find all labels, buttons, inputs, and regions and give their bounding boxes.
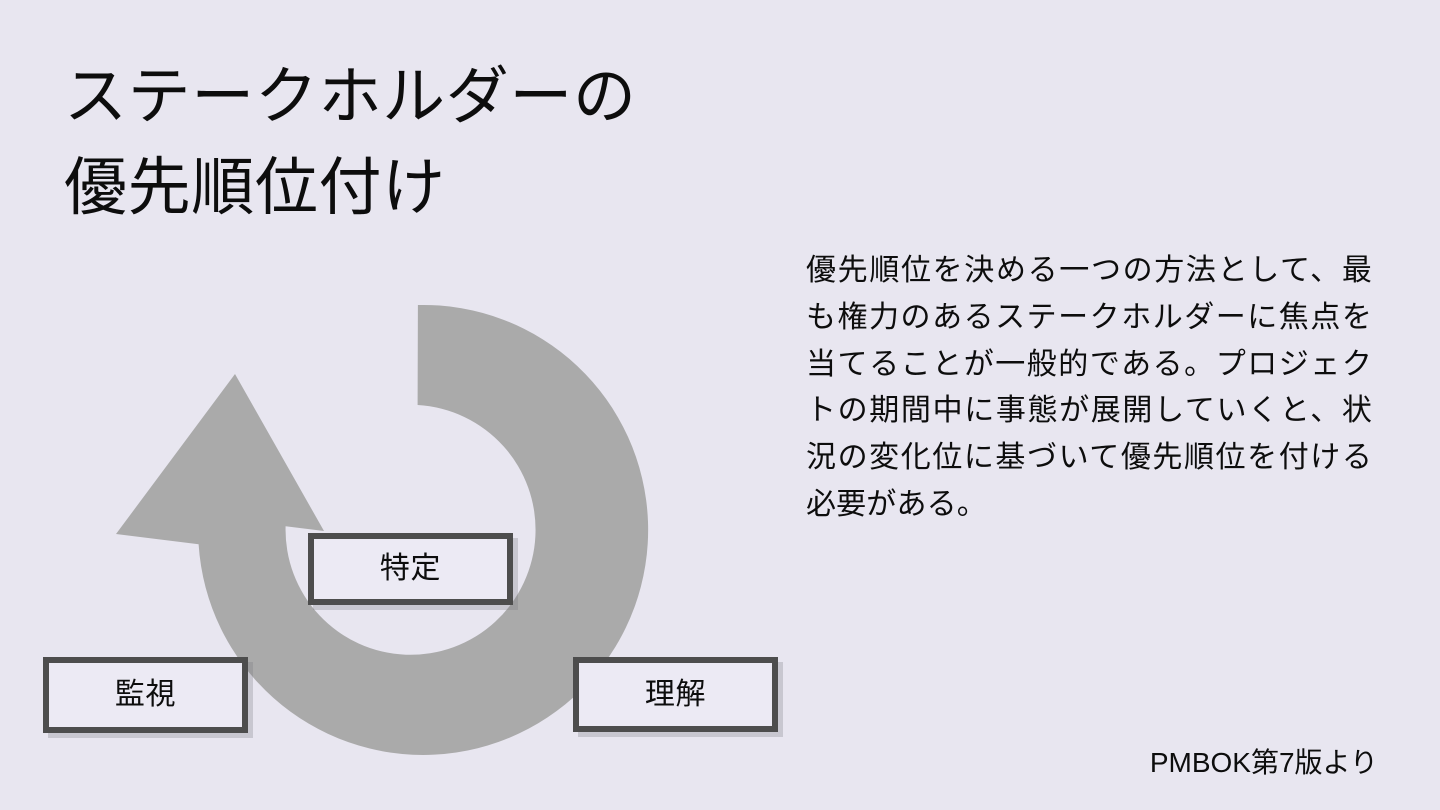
- cycle-node-monitor-label: 監視: [115, 680, 176, 710]
- page-title-line-1: ステークホルダーの: [64, 52, 824, 143]
- stakeholder-cycle-diagram: 特定 理解 分析 優先順位付 エンゲージメント 監視: [0, 250, 800, 810]
- cycle-node-understand[interactable]: 理解: [573, 657, 778, 732]
- body-paragraph: 優先順位を決める一つの方法として、最も権力のあるステークホルダーに焦点を当てるこ…: [806, 248, 1372, 529]
- source-citation: PMBOK第7版より: [1150, 746, 1378, 780]
- page-title: ステークホルダーの 優先順位付け: [64, 52, 824, 235]
- cycle-node-monitor[interactable]: 監視: [43, 657, 248, 733]
- slide-canvas: ステークホルダーの 優先順位付け 特定 理解 分析 優先順位付 エンゲージメント…: [0, 0, 1440, 810]
- page-title-line-2: 優先順位付け: [64, 143, 824, 234]
- cycle-node-identify-label: 特定: [380, 554, 441, 584]
- cycle-node-understand-label: 理解: [645, 680, 706, 710]
- cycle-node-identify[interactable]: 特定: [308, 533, 513, 605]
